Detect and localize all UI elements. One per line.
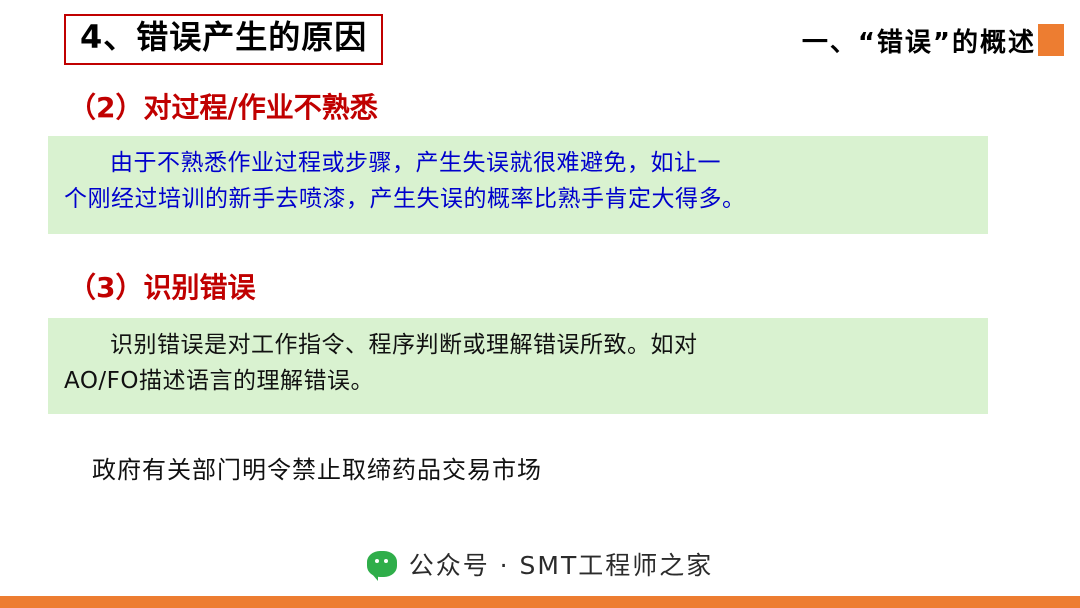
content-block-item-3: 识别错误是对工作指令、程序判断或理解错误所致。如对 AO/FO描述语言的理解错误…	[48, 318, 988, 414]
slide-canvas: 4、错误产生的原因 一、“错误”的概述 （2）对过程/作业不熟悉 由于不熟悉作业…	[0, 0, 1080, 608]
section-label: 一、“错误”的概述	[802, 22, 1036, 59]
paragraph-item-2-line-2: 个刚经过培训的新手去喷漆，产生失误的概率比熟手肯定大得多。	[64, 182, 972, 218]
heading-item-2: （2）对过程/作业不熟悉	[68, 86, 378, 126]
watermark: 公众号 · SMT工程师之家	[0, 546, 1080, 582]
note-text: 政府有关部门明令禁止取缔药品交易市场	[92, 450, 542, 485]
wechat-icon-tail	[372, 574, 378, 581]
paragraph-item-3-line-2: AO/FO描述语言的理解错误。	[64, 364, 972, 400]
watermark-text: 公众号 · SMT工程师之家	[409, 546, 714, 582]
footer-bar	[0, 596, 1080, 608]
paragraph-item-2-line-1: 由于不熟悉作业过程或步骤，产生失误就很难避免，如让一	[64, 146, 972, 182]
paragraph-line-text: 识别错误是对工作指令、程序判断或理解错误所致。如对	[110, 332, 698, 358]
section-marker-block	[1038, 24, 1064, 56]
paragraph-line-text: 由于不熟悉作业过程或步骤，产生失误就很难避免，如让一	[110, 150, 721, 176]
page-title: 4、错误产生的原因	[80, 20, 367, 55]
heading-item-3: （3）识别错误	[68, 266, 255, 306]
paragraph-item-3-line-1: 识别错误是对工作指令、程序判断或理解错误所致。如对	[64, 328, 972, 364]
content-block-item-2: 由于不熟悉作业过程或步骤，产生失误就很难避免，如让一 个刚经过培训的新手去喷漆，…	[48, 136, 988, 234]
wechat-icon	[367, 551, 397, 577]
slide-title-box: 4、错误产生的原因	[64, 14, 383, 65]
